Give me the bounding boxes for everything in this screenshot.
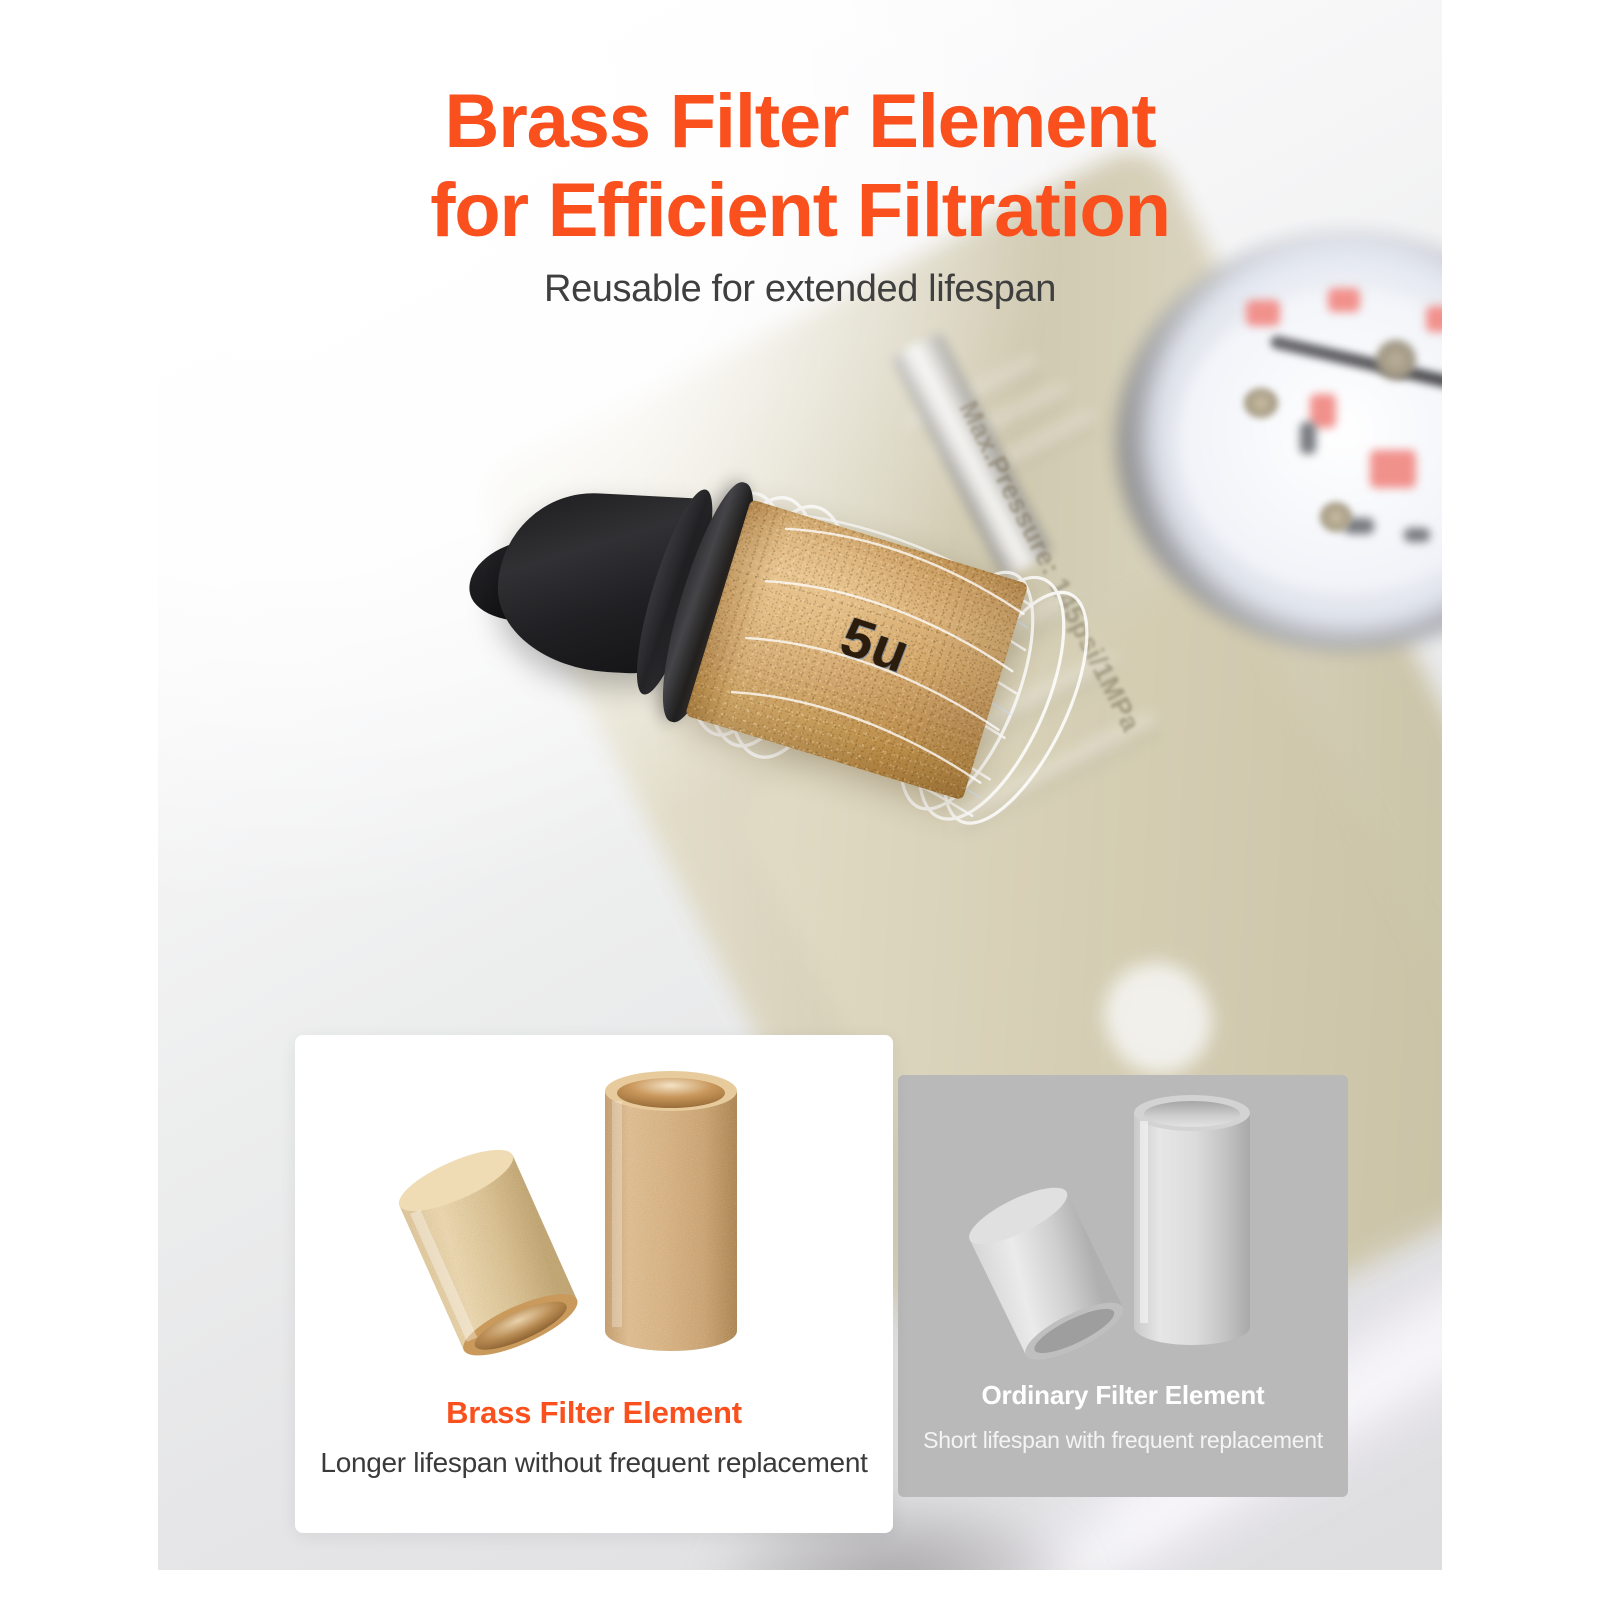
- ordinary-filter-tubes: [938, 1065, 1318, 1375]
- page-title-line-1: Brass Filter Element: [0, 78, 1600, 167]
- comparison-panel-ordinary: Ordinary Filter Element Short lifespan w…: [898, 1075, 1348, 1497]
- ordinary-filter-subtitle: Short lifespan with frequent replacement: [898, 1427, 1348, 1454]
- hero-filter-element: 5u: [560, 470, 1100, 970]
- page-subtitle: Reusable for extended lifespan: [0, 268, 1600, 311]
- brass-filter-title: Brass Filter Element: [295, 1395, 893, 1431]
- product-banner: Max.Pressure: 145psi/1MPa: [0, 0, 1600, 1600]
- brass-filter-tubes: [373, 1045, 823, 1385]
- page-title-line-2: for Efficient Filtration: [0, 167, 1600, 256]
- gauge-tick: [1404, 528, 1430, 542]
- ordinary-filter-title: Ordinary Filter Element: [898, 1380, 1348, 1411]
- brass-filter-subtitle: Longer lifespan without frequent replace…: [295, 1447, 893, 1479]
- gauge-screw: [1244, 388, 1278, 418]
- gauge-screw: [1320, 502, 1352, 532]
- gauge-red-mark: [1370, 450, 1416, 488]
- page-title: Brass Filter Element for Efficient Filtr…: [0, 78, 1600, 256]
- gauge-tick: [1300, 422, 1316, 454]
- gauge-hub: [1376, 340, 1416, 380]
- comparison-panel-brass: Brass Filter Element Longer lifespan wit…: [295, 1035, 893, 1533]
